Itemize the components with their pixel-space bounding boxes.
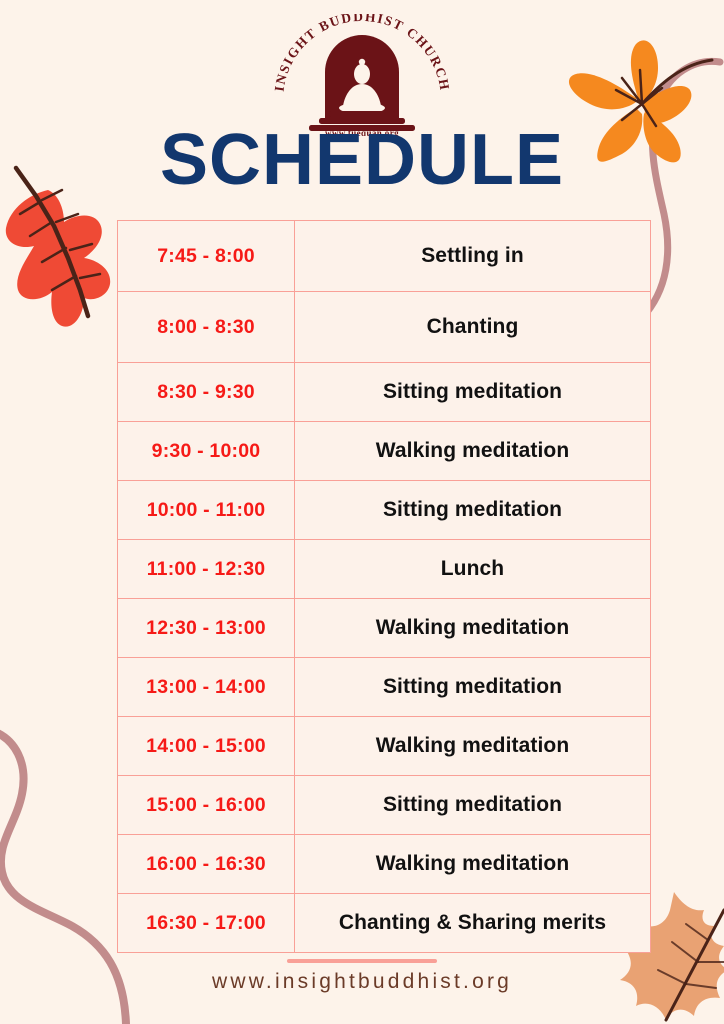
table-row: 8:00 - 8:30Chanting xyxy=(118,292,651,363)
schedule-time-cell: 7:45 - 8:00 xyxy=(118,221,295,292)
table-row: 16:00 - 16:30Walking meditation xyxy=(118,835,651,894)
schedule-time-cell: 16:00 - 16:30 xyxy=(118,835,295,894)
table-row: 14:00 - 15:00Walking meditation xyxy=(118,717,651,776)
schedule-table: 7:45 - 8:00Settling in8:00 - 8:30Chantin… xyxy=(117,220,651,953)
table-row: 9:30 - 10:00Walking meditation xyxy=(118,422,651,481)
table-row: 13:00 - 14:00Sitting meditation xyxy=(118,658,651,717)
schedule-activity-cell: Walking meditation xyxy=(295,422,651,481)
footer-divider xyxy=(287,959,437,963)
table-row: 8:30 - 9:30Sitting meditation xyxy=(118,363,651,422)
schedule-activity-cell: Walking meditation xyxy=(295,835,651,894)
schedule-time-cell: 9:30 - 10:00 xyxy=(118,422,295,481)
page-title: SCHEDULE xyxy=(0,124,724,196)
schedule-activity-cell: Walking meditation xyxy=(295,599,651,658)
schedule-activity-cell: Sitting meditation xyxy=(295,776,651,835)
schedule-activity-cell: Sitting meditation xyxy=(295,481,651,540)
schedule-time-cell: 15:00 - 16:00 xyxy=(118,776,295,835)
schedule-time-cell: 13:00 - 14:00 xyxy=(118,658,295,717)
table-row: 16:30 - 17:00Chanting & Sharing merits xyxy=(118,894,651,953)
schedule-time-cell: 14:00 - 15:00 xyxy=(118,717,295,776)
table-row: 11:00 - 12:30Lunch xyxy=(118,540,651,599)
table-row: 12:30 - 13:00Walking meditation xyxy=(118,599,651,658)
schedule-time-cell: 10:00 - 11:00 xyxy=(118,481,295,540)
schedule-time-cell: 11:00 - 12:30 xyxy=(118,540,295,599)
schedule-activity-cell: Chanting xyxy=(295,292,651,363)
table-row: 15:00 - 16:00Sitting meditation xyxy=(118,776,651,835)
schedule-activity-cell: Walking meditation xyxy=(295,717,651,776)
schedule-time-cell: 16:30 - 17:00 xyxy=(118,894,295,953)
schedule-time-cell: 8:00 - 8:30 xyxy=(118,292,295,363)
table-row: 7:45 - 8:00Settling in xyxy=(118,221,651,292)
schedule-activity-cell: Lunch xyxy=(295,540,651,599)
schedule-activity-cell: Chanting & Sharing merits xyxy=(295,894,651,953)
schedule-time-cell: 8:30 - 9:30 xyxy=(118,363,295,422)
schedule-activity-cell: Settling in xyxy=(295,221,651,292)
schedule-activity-cell: Sitting meditation xyxy=(295,363,651,422)
table-row: 10:00 - 11:00Sitting meditation xyxy=(118,481,651,540)
church-logo: INSIGHT BUDDHIST CHURCH www.tuequan.org xyxy=(267,14,457,136)
schedule-poster: INSIGHT BUDDHIST CHURCH www.tuequan.org … xyxy=(0,0,724,1024)
schedule-activity-cell: Sitting meditation xyxy=(295,658,651,717)
schedule-table-body: 7:45 - 8:00Settling in8:00 - 8:30Chantin… xyxy=(118,221,651,953)
footer-website-url: www.insightbuddhist.org xyxy=(0,970,724,994)
schedule-time-cell: 12:30 - 13:00 xyxy=(118,599,295,658)
